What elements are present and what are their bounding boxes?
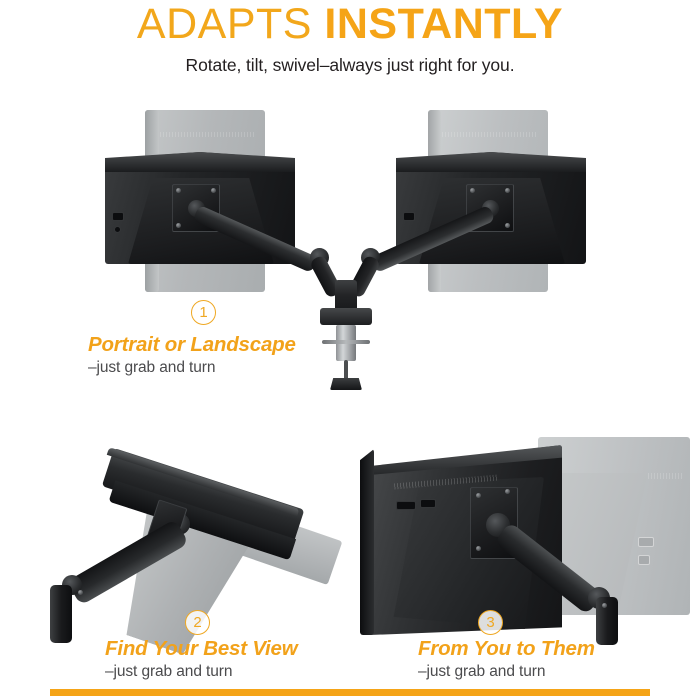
- vesa-screw-swivel-tl: [476, 493, 481, 498]
- monitor-left-port: [112, 212, 124, 221]
- footer-accent-bar: [50, 689, 650, 696]
- monitor-right-port: [403, 212, 415, 221]
- desk-clamp-shaft: [344, 360, 348, 380]
- vesa-screw-swivel-bl: [476, 546, 481, 551]
- caption-swivel: From You to Them –just grab and turn: [418, 637, 595, 681]
- caption-swivel-sub: –just grab and turn: [418, 663, 595, 681]
- monitor-left-top-bezel: [105, 152, 295, 172]
- page-title: ADAPTS INSTANTLY: [0, 2, 700, 46]
- vesa-screw-left-tl: [176, 188, 181, 193]
- vesa-screw-right-tr: [505, 188, 510, 193]
- caption-tilt: Find Your Best View –just grab and turn: [105, 637, 298, 681]
- caption-tilt-sub: –just grab and turn: [105, 663, 298, 681]
- vesa-screw-swivel-tr: [505, 489, 510, 494]
- ghost-monitor-swivel-port: [638, 537, 654, 547]
- vesa-screw-right-tl: [470, 188, 475, 193]
- vesa-screw-left-bl: [176, 223, 181, 228]
- ghost-monitor-left-vent: [160, 132, 256, 137]
- title-word-instantly: INSTANTLY: [324, 0, 563, 48]
- mount-base-collar: [320, 308, 372, 325]
- badge-2: 2: [185, 610, 210, 635]
- vesa-screw-left-tr: [211, 188, 216, 193]
- badge-3-label: 3: [486, 614, 494, 631]
- badge-3: 3: [478, 610, 503, 635]
- caption-rotate-sub: –just grab and turn: [88, 359, 296, 377]
- arm-tilt-pivot-screw: [78, 590, 83, 595]
- desk-clamp-handle-bar: [322, 340, 370, 344]
- caption-rotate: Portrait or Landscape –just grab and tur…: [88, 333, 296, 377]
- page-subtitle: Rotate, tilt, swivel–always just right f…: [0, 55, 700, 76]
- vesa-screw-right-br: [505, 223, 510, 228]
- arm-segment-swivel-post: [596, 597, 618, 645]
- badge-2-label: 2: [193, 614, 201, 631]
- badge-1: 1: [191, 300, 216, 325]
- monitor-left-port-2: [114, 226, 121, 233]
- title-word-adapts: ADAPTS: [137, 0, 312, 48]
- arm-segment-tilt-post: [50, 585, 72, 643]
- header: ADAPTS INSTANTLY Rotate, tilt, swivel–al…: [0, 0, 700, 76]
- caption-tilt-title: Find Your Best View: [105, 637, 298, 661]
- scene-tilt-illustration: 2: [0, 425, 350, 640]
- monitor-swivel-left-edge: [360, 449, 374, 635]
- arm-swivel-pivot-screw: [602, 603, 607, 608]
- caption-swivel-title: From You to Them: [418, 637, 595, 661]
- ghost-monitor-right-vent: [442, 132, 538, 137]
- monitor-swivel-port-2: [420, 499, 436, 508]
- monitor-swivel-port: [396, 501, 416, 510]
- desk-clamp-foot: [330, 378, 362, 390]
- scene-swivel-illustration: 3: [350, 425, 700, 640]
- caption-rotate-title: Portrait or Landscape: [88, 333, 296, 357]
- monitor-right-top-bezel: [396, 152, 586, 172]
- badge-1-label: 1: [199, 304, 207, 321]
- ghost-monitor-swivel-port-2: [638, 555, 650, 565]
